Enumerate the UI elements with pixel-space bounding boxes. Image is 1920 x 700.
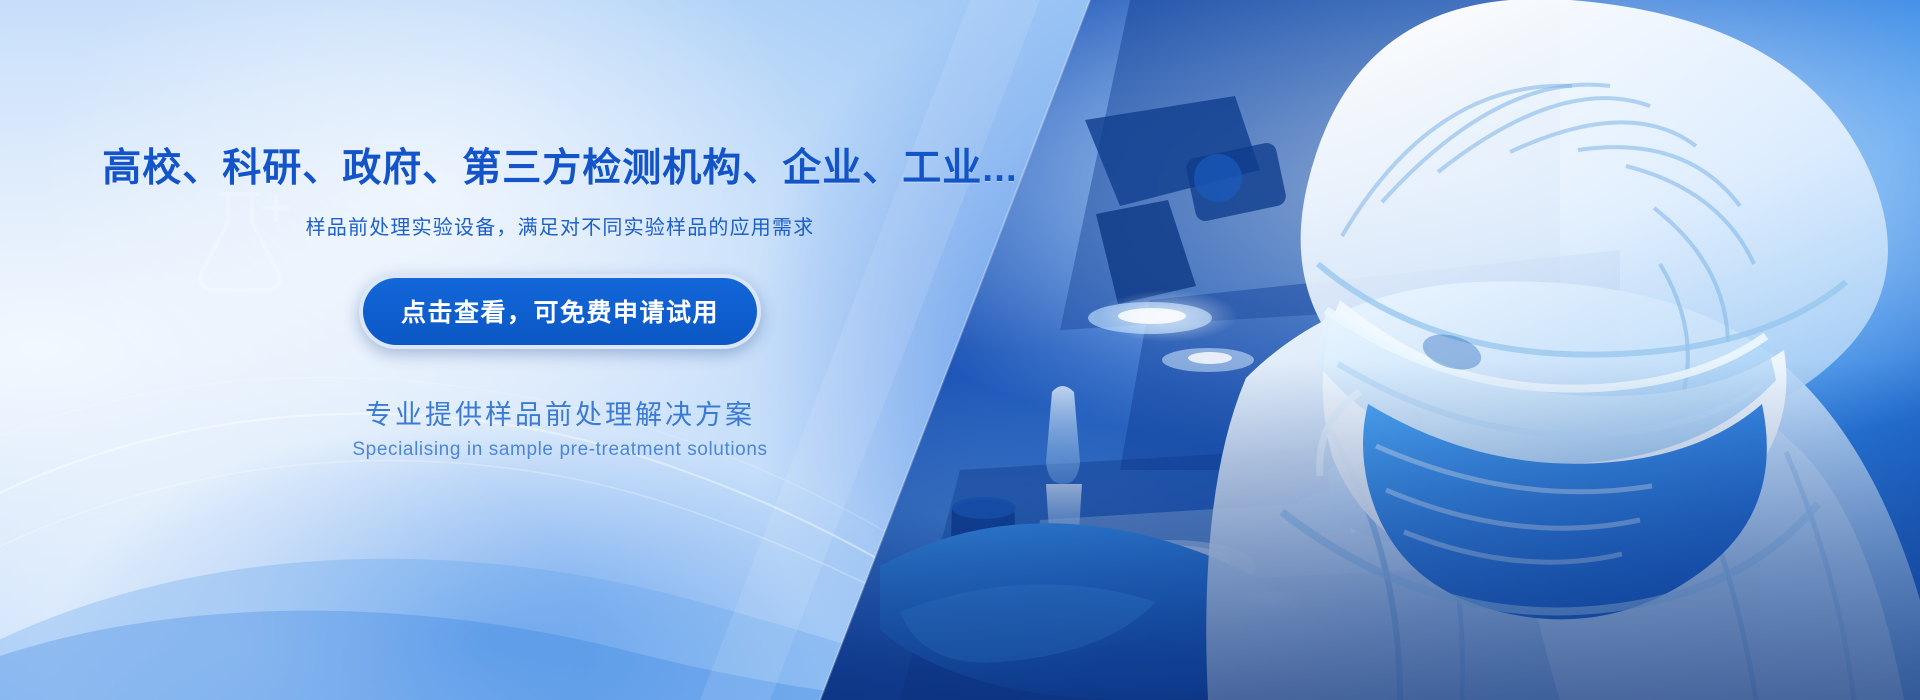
banner-content: 高校、科研、政府、第三方检测机构、企业、工业... 样品前处理实验设备，满足对不… xyxy=(0,0,1120,700)
hero-banner: 高校、科研、政府、第三方检测机构、企业、工业... 样品前处理实验设备，满足对不… xyxy=(0,0,1920,700)
tagline-block: 专业提供样品前处理解决方案 Specialising in sample pre… xyxy=(352,393,767,461)
tagline-chinese: 专业提供样品前处理解决方案 xyxy=(352,393,767,432)
banner-subtitle: 样品前处理实验设备，满足对不同实验样品的应用需求 xyxy=(306,211,815,240)
tagline-english: Specialising in sample pre-treatment sol… xyxy=(352,439,767,461)
cta-wrapper: 点击查看，可免费申请试用 xyxy=(359,274,761,349)
page-title: 高校、科研、政府、第三方检测机构、企业、工业... xyxy=(102,148,1018,191)
free-trial-button[interactable]: 点击查看，可免费申请试用 xyxy=(359,274,761,349)
